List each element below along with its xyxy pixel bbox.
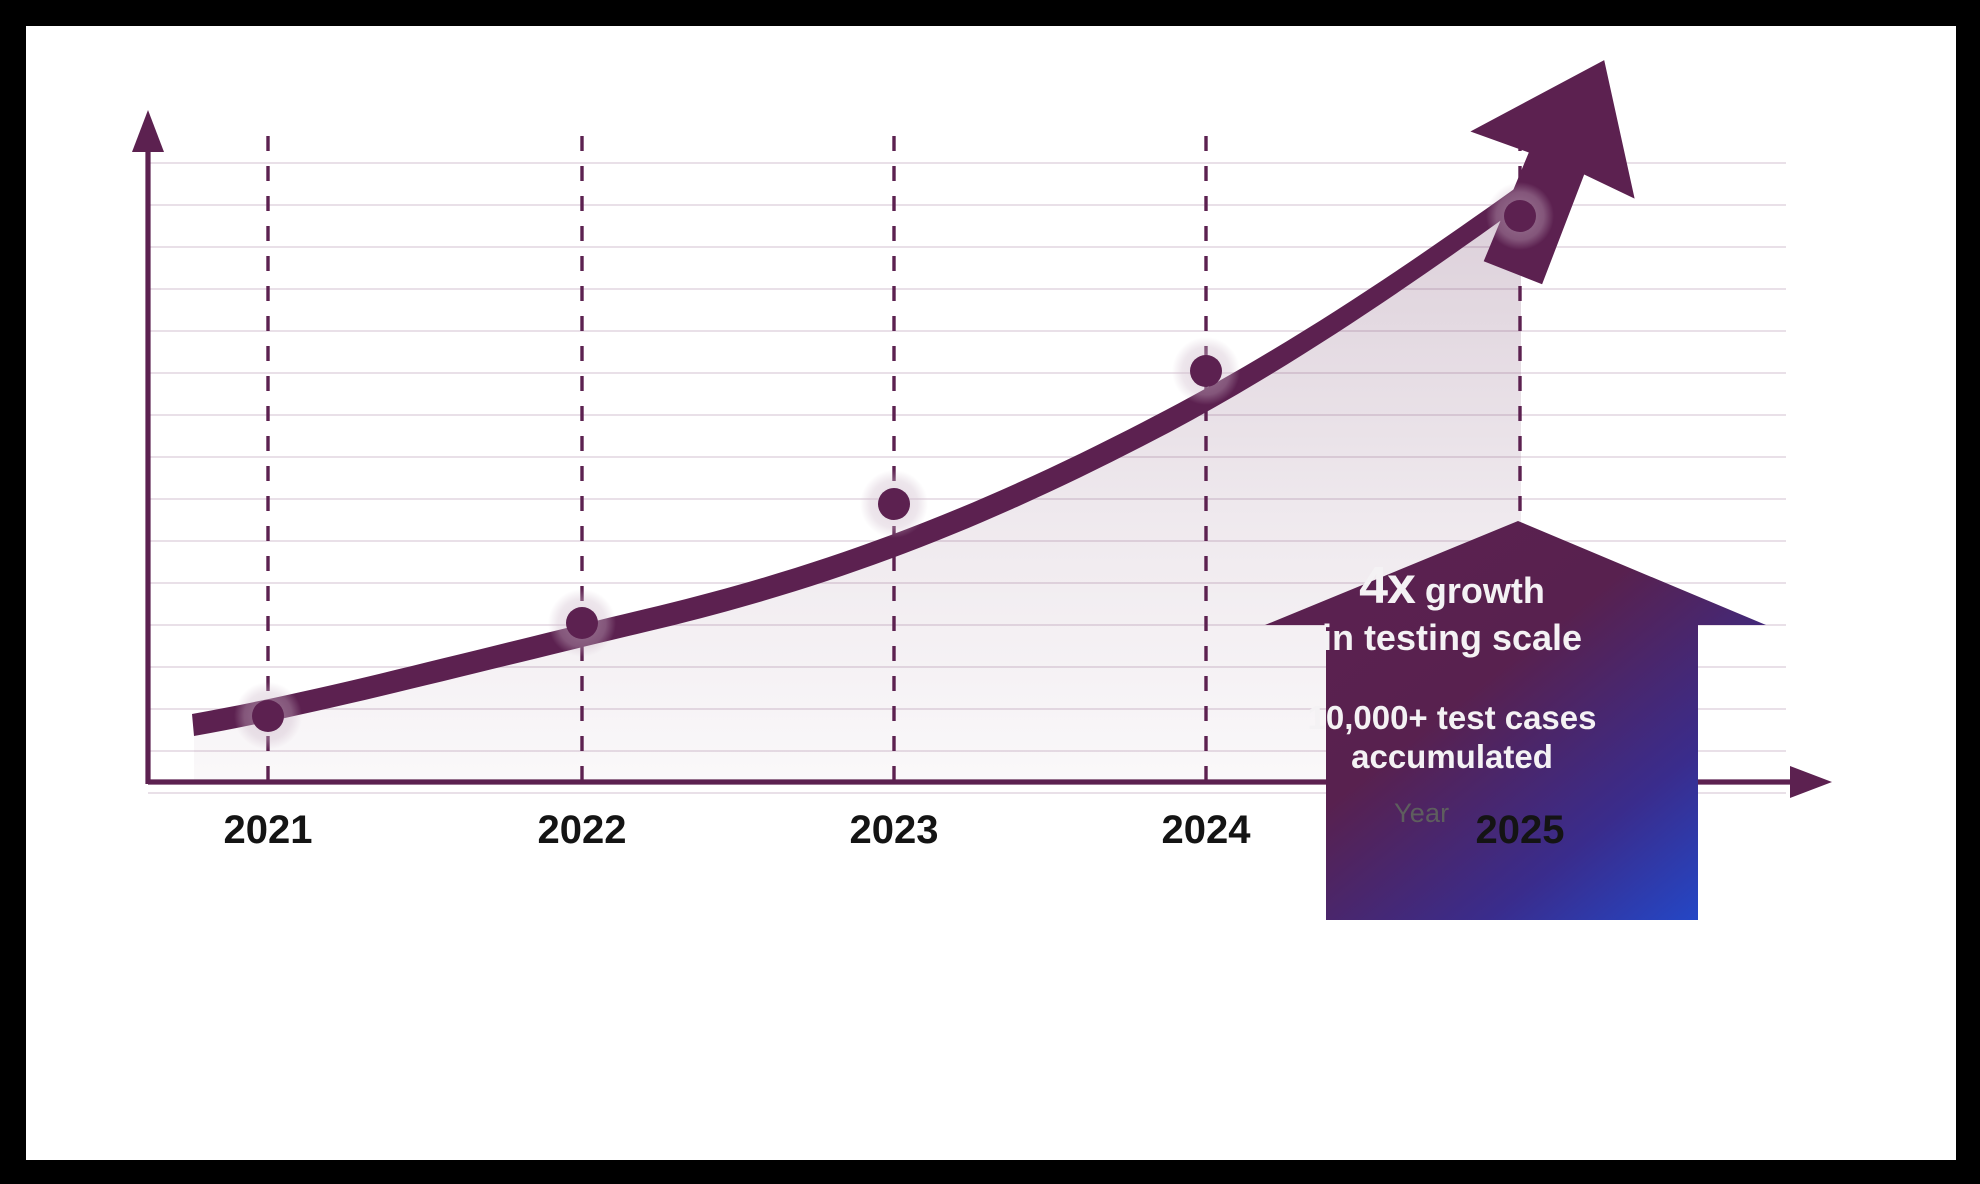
x-axis-title: Year bbox=[1394, 798, 1449, 829]
x-tick-label-2023: 2023 bbox=[850, 808, 939, 853]
x-tick-label-2024: 2024 bbox=[1162, 808, 1251, 853]
chart-canvas: Testing Scale Year 2021 2022 2023 2024 2… bbox=[26, 26, 1956, 1160]
growth-line-chart bbox=[26, 26, 1956, 1160]
screenshot-frame: Testing Scale Year 2021 2022 2023 2024 2… bbox=[0, 0, 1980, 1184]
trend-arrowhead bbox=[1469, 60, 1636, 286]
x-tick-label-2025: 2025 bbox=[1476, 808, 1565, 853]
y-axis bbox=[132, 110, 164, 784]
x-tick-label-2022: 2022 bbox=[538, 808, 627, 853]
x-tick-label-2021: 2021 bbox=[224, 808, 313, 853]
